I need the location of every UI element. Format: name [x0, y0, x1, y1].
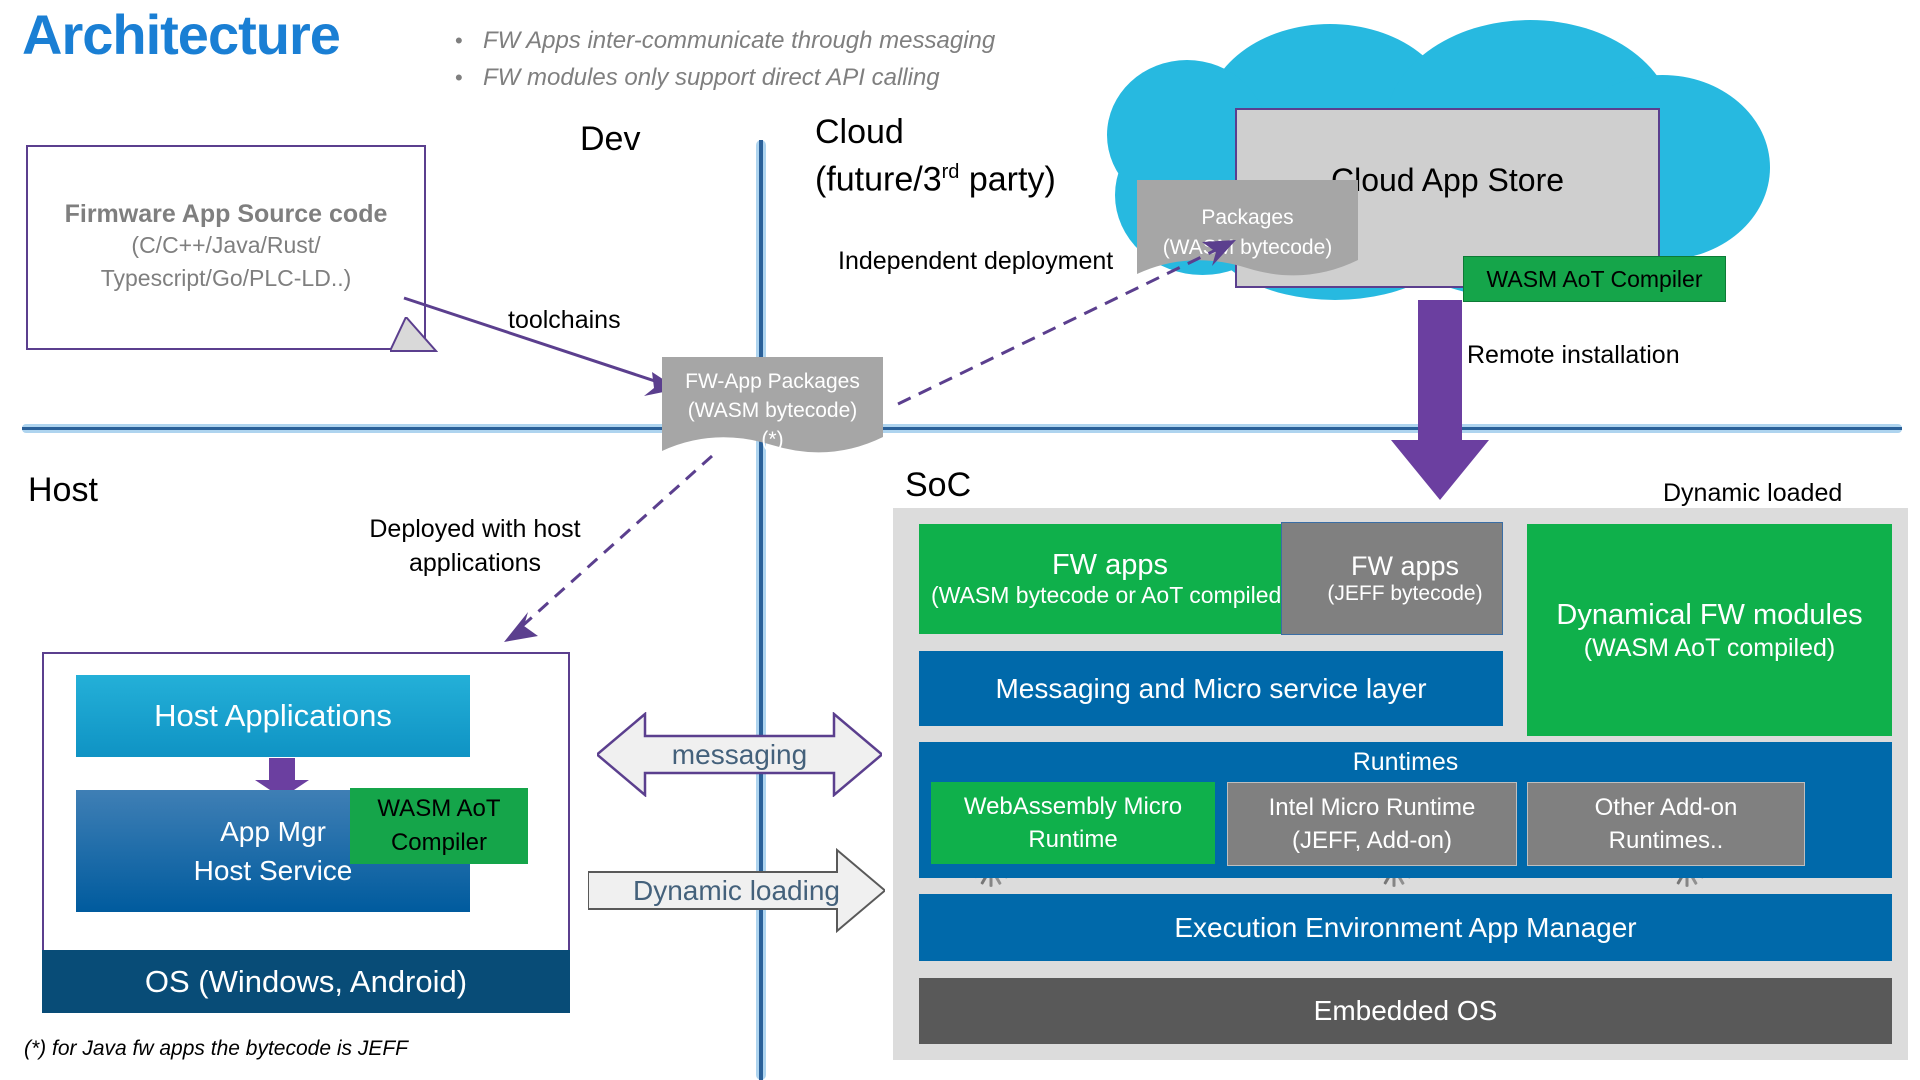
soc-runtimes-title: Runtimes: [919, 748, 1892, 777]
source-box-line3: Typescript/Go/PLC-LD..): [101, 262, 352, 295]
remote-installation-arrow: [1385, 300, 1495, 505]
soc-dynamical-sub: (WASM AoT compiled): [1527, 634, 1892, 663]
soc-runtime-webassembly-micro-runtime: WebAssembly Micro Runtime: [931, 782, 1215, 864]
soc-fw-apps-wasm-sub: (WASM bytecode or AoT compiled): [931, 582, 1289, 609]
rt2-line2: (JEFF, Add-on): [1269, 824, 1476, 857]
soc-fw-apps-jeff-box: FW apps (JEFF bytecode): [1281, 522, 1503, 635]
fw-packages-line2: (WASM bytecode): [688, 396, 858, 425]
soc-fw-apps-wasm-title: FW apps: [1052, 549, 1168, 582]
soc-runtimes-box: Runtimes WebAssembly Micro Runtime Intel…: [919, 742, 1892, 878]
soc-fw-apps-wasm-box: FW apps (WASM bytecode or AoT compiled): [919, 524, 1301, 634]
soc-embedded-os-label: Embedded OS: [1314, 995, 1498, 1027]
bullet-item: • FW Apps inter-communicate through mess…: [455, 22, 1155, 59]
firmware-source-code-box: Firmware App Source code (C/C++/Java/Rus…: [26, 145, 426, 350]
soc-embedded-os-box: Embedded OS: [919, 978, 1892, 1044]
host-applications-label: Host Applications: [154, 698, 392, 734]
remote-installation-label: Remote installation: [1467, 341, 1680, 370]
independent-deployment-label: Independent deployment: [838, 247, 1113, 276]
soc-fw-apps-jeff-title: FW apps: [1351, 551, 1459, 582]
host-os-box: OS (Windows, Android): [42, 950, 570, 1013]
soc-execution-environment-app-manager-box: Execution Environment App Manager: [919, 894, 1892, 961]
soc-messaging-layer-label: Messaging and Micro service layer: [995, 673, 1426, 705]
host-applications-box: Host Applications: [76, 675, 470, 757]
rt2-line1: Intel Micro Runtime: [1269, 791, 1476, 824]
app-mgr-line1: App Mgr: [194, 812, 353, 851]
dynamic-loading-label: Dynamic loading: [588, 848, 915, 933]
section-label-cloud-line2: (future/3rd party): [815, 152, 1056, 199]
host-wasm-aot-compiler-box: WASM AoT Compiler: [350, 788, 528, 864]
section-label-host: Host: [28, 471, 98, 510]
toolchains-label: toolchains: [508, 306, 621, 335]
soc-messaging-layer-box: Messaging and Micro service layer: [919, 651, 1503, 726]
bullet-marker-icon: •: [455, 22, 483, 59]
cloud-wasm-aot-compiler-label: WASM AoT Compiler: [1487, 266, 1703, 293]
section-label-cloud-line1: Cloud: [815, 112, 1056, 152]
source-box-line2: (C/C++/Java/Rust/: [131, 229, 320, 262]
rt1-line1: WebAssembly Micro: [964, 790, 1182, 823]
rt1-line2: Runtime: [964, 823, 1182, 856]
fw-app-packages-shape: FW-App Packages (WASM bytecode) (*): [660, 355, 885, 465]
bullet-text: FW modules only support direct API calli…: [483, 59, 940, 96]
soc-dynamical-fw-modules-box: Dynamical FW modules (WASM AoT compiled): [1527, 524, 1892, 736]
footnote: (*) for Java fw apps the bytecode is JEF…: [24, 1037, 408, 1061]
bullet-list: • FW Apps inter-communicate through mess…: [455, 22, 1155, 96]
soc-dynamical-title: Dynamical FW modules: [1527, 596, 1892, 634]
bullet-text: FW Apps inter-communicate through messag…: [483, 22, 995, 59]
fw-packages-line1: FW-App Packages: [685, 367, 860, 396]
messaging-arrow: messaging: [597, 712, 882, 797]
host-aot-line2: Compiler: [377, 826, 500, 860]
section-label-soc: SoC: [905, 466, 971, 505]
page-title: Architecture: [22, 2, 340, 67]
cloud-wasm-aot-compiler-box: WASM AoT Compiler: [1463, 256, 1726, 302]
bullet-item: • FW modules only support direct API cal…: [455, 59, 1155, 96]
messaging-label: messaging: [597, 712, 882, 797]
soc-runtime-other-addon-runtimes: Other Add-on Runtimes..: [1527, 782, 1805, 866]
soc-fw-apps-jeff-sub: (JEFF bytecode): [1327, 582, 1482, 606]
fw-packages-line3: (*): [761, 425, 783, 454]
soc-runtime-intel-micro-runtime: Intel Micro Runtime (JEFF, Add-on): [1227, 782, 1517, 866]
bullet-marker-icon: •: [455, 59, 483, 96]
section-label-cloud: Cloud (future/3rd party): [815, 112, 1056, 199]
rt3-line2: Runtimes..: [1595, 824, 1738, 857]
section-label-dev: Dev: [580, 120, 640, 159]
host-aot-line1: WASM AoT: [377, 792, 500, 826]
source-box-title: Firmware App Source code: [65, 200, 388, 229]
host-os-label: OS (Windows, Android): [145, 964, 467, 1000]
dynamic-loaded-legend-label: Dynamic loaded: [1663, 479, 1842, 508]
rt3-line1: Other Add-on: [1595, 791, 1738, 824]
app-mgr-line2: Host Service: [194, 851, 353, 890]
horizontal-divider-core: [22, 427, 1902, 430]
vertical-divider-core: [759, 140, 763, 1080]
dynamic-loading-arrow: Dynamic loading: [588, 848, 885, 933]
deployed-with-host-arrow: [490, 450, 720, 650]
soc-eeam-label: Execution Environment App Manager: [1174, 912, 1636, 944]
